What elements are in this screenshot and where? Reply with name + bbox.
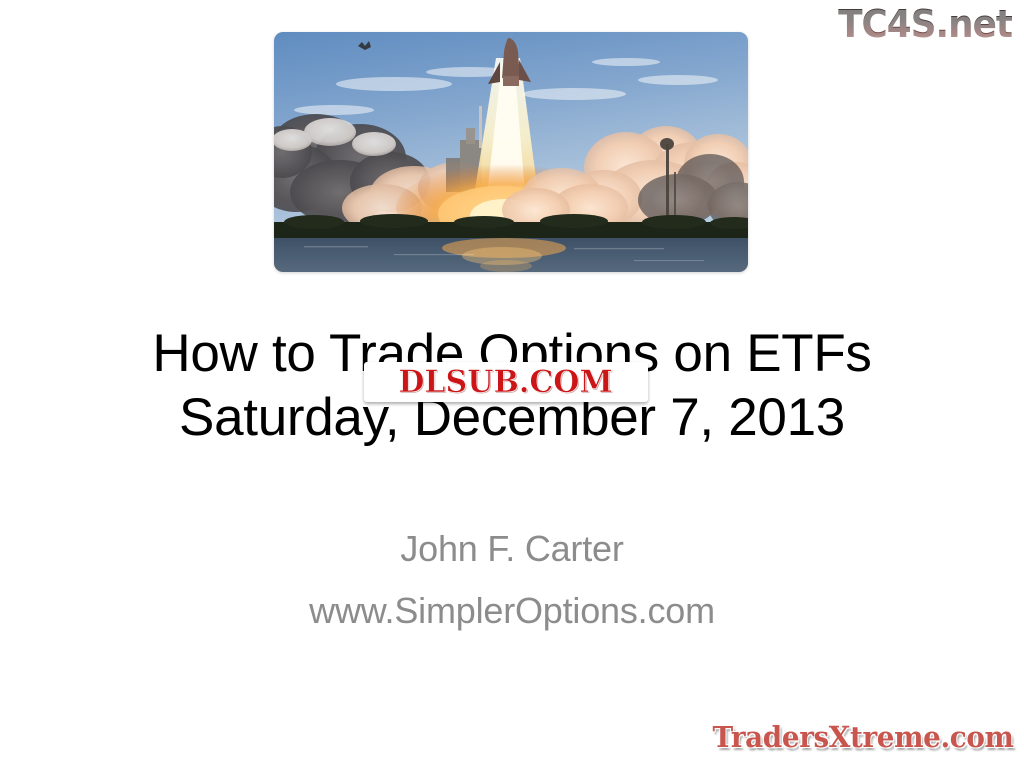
space-shuttle-launch-image bbox=[274, 32, 748, 272]
antenna-mast bbox=[666, 144, 669, 222]
presenter-website: www.SimplerOptions.com bbox=[0, 580, 1024, 642]
watermark-dlsub-label: DLSUB.COM bbox=[399, 367, 613, 398]
presenter-name: John F. Carter bbox=[0, 518, 1024, 580]
presentation-slide: How to Trade Options on ETFs Saturday, D… bbox=[0, 0, 1024, 768]
watermark-dlsub-plate: DLSUB.COM bbox=[364, 362, 648, 402]
launch-photo-artwork bbox=[274, 32, 748, 272]
slide-subtitle: John F. Carter www.SimplerOptions.com bbox=[0, 518, 1024, 642]
watermark-tradersxtreme: TradersXtreme.com bbox=[713, 720, 1014, 754]
watermark-tc4s: TC4S.net bbox=[838, 2, 1012, 46]
